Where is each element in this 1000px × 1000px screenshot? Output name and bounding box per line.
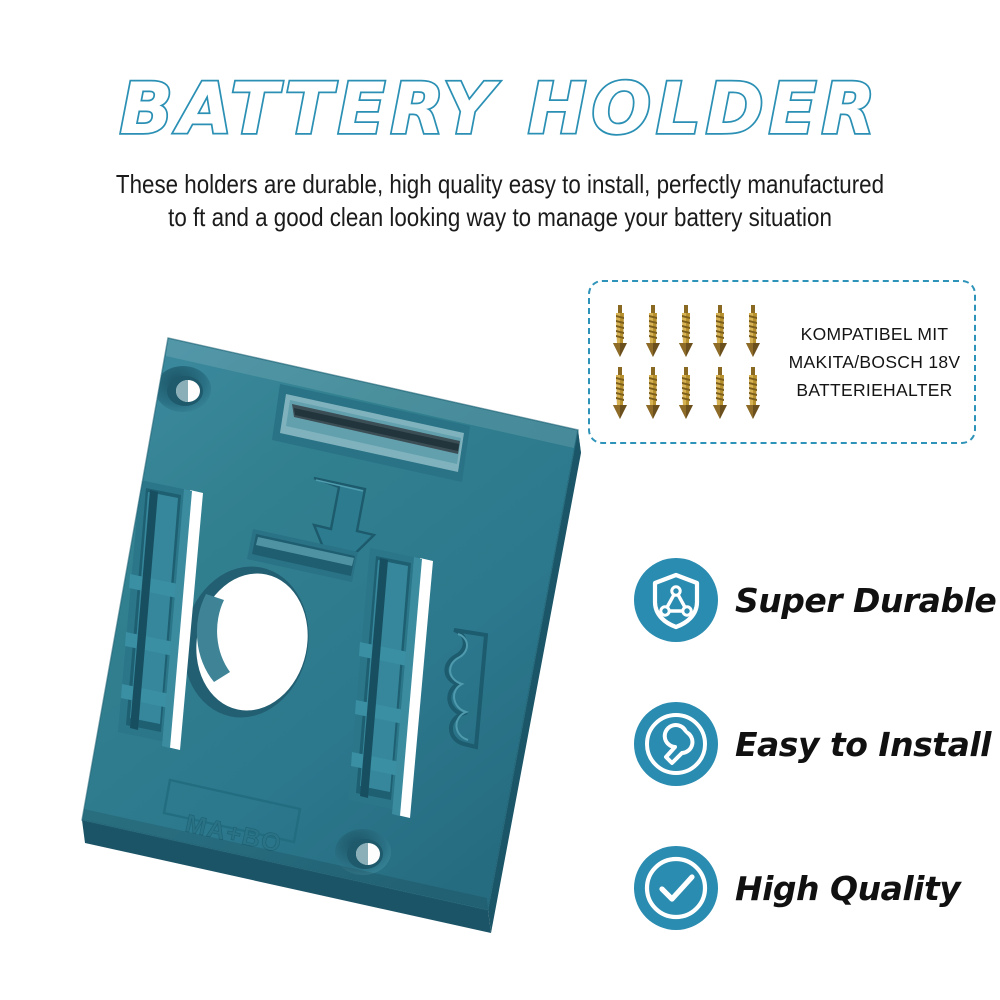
check-circle-icon (634, 846, 718, 930)
header-subtitle-block: These holders are durable, high quality … (50, 168, 950, 234)
compatibility-box: KOMPATIBEL MIT MAKITA/BOSCH 18V BATTERIE… (588, 280, 976, 444)
page-title: BATTERY HOLDER (0, 74, 1000, 144)
feature-label: Easy to Install (735, 725, 991, 764)
screw-icon (611, 365, 629, 421)
subtitle-line-2: to ft and a good clean looking way to ma… (113, 201, 887, 234)
screw-icon (644, 365, 662, 421)
header-title-block: BATTERY HOLDER (0, 74, 1000, 144)
feature-item-high-quality: High Quality (634, 836, 994, 940)
screw-icon (711, 365, 729, 421)
screw-icon (677, 303, 695, 359)
feature-item-easy-to-install: Easy to Install (634, 692, 994, 796)
product-screw-hole-top-left (155, 366, 211, 412)
compat-line-1: KOMPATIBEL MIT (775, 320, 974, 348)
subtitle-line-1: These holders are durable, high quality … (113, 168, 887, 201)
wrench-icon (634, 702, 718, 786)
compat-line-2: MAKITA/BOSCH 18V (775, 348, 974, 376)
screw-icon (611, 303, 629, 359)
compat-line-3: BATTERIEHALTER (775, 376, 974, 404)
feature-label: Super Durable (735, 581, 996, 620)
screw-icon (744, 303, 762, 359)
screw-icon (744, 365, 762, 421)
product-image-battery-holder: MA+BO (18, 312, 618, 972)
product-left-scallop (68, 502, 112, 635)
shield-icon (634, 558, 718, 642)
screw-icon (711, 303, 729, 359)
feature-list: Super Durable Easy to Install High Quali… (634, 548, 994, 940)
feature-item-super-durable: Super Durable (634, 548, 994, 652)
feature-label: High Quality (735, 869, 960, 908)
screw-icon (677, 365, 695, 421)
screw-grid (604, 302, 769, 422)
screw-icon (644, 303, 662, 359)
compatibility-text: KOMPATIBEL MIT MAKITA/BOSCH 18V BATTERIE… (775, 320, 974, 404)
